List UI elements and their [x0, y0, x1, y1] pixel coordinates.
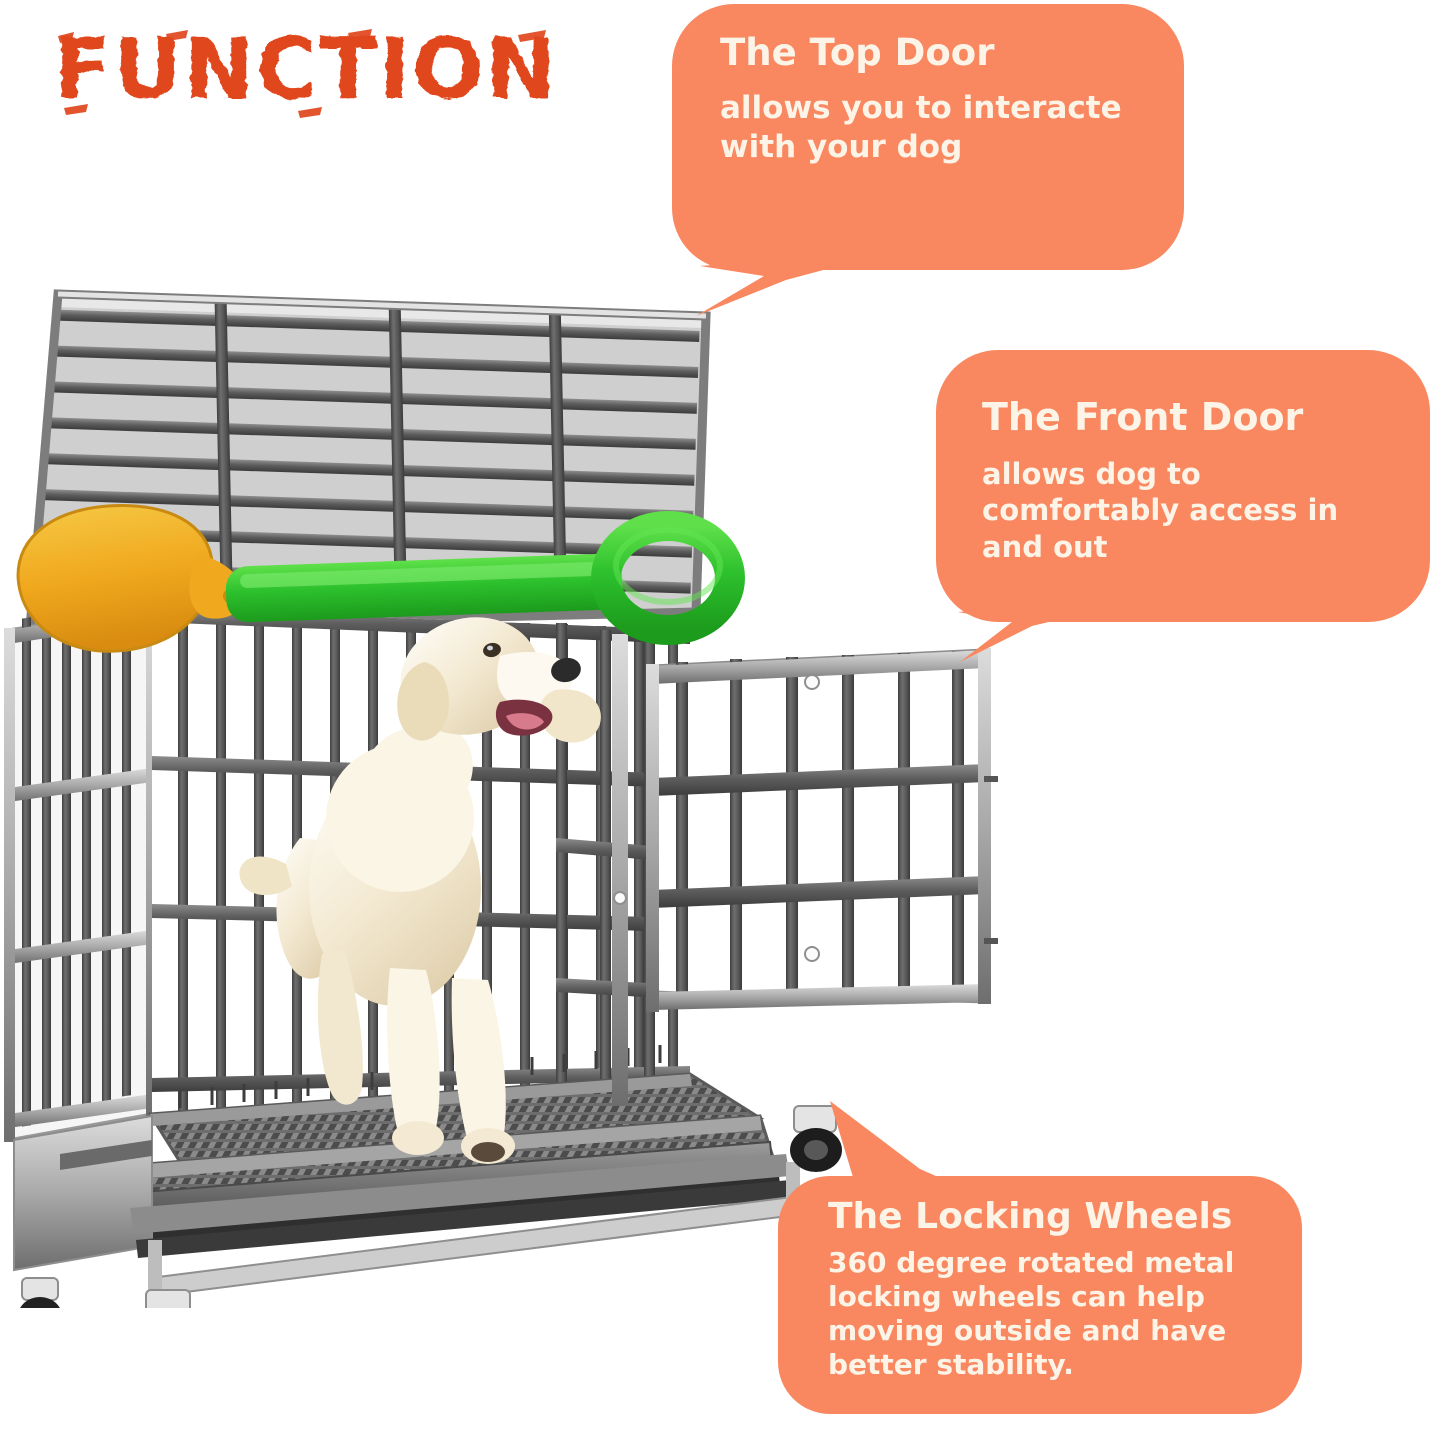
callout-locking-wheels[interactable]: The Locking Wheels 360 degree rotated me… — [778, 1176, 1302, 1414]
page-title: FUNCTION — [48, 16, 608, 126]
front-door-panel — [646, 648, 998, 1012]
callout-locking-wheels-body: 360 degree rotated metal locking wheels … — [828, 1246, 1276, 1383]
infographic-canvas: FUNCTION — [0, 0, 1445, 1430]
callout-locking-wheels-title: The Locking Wheels — [828, 1198, 1276, 1236]
callout-front-door-bubble: The Front Door allows dog to comfortably… — [936, 350, 1430, 622]
callout-top-door[interactable]: The Top Door allows you to interacte wit… — [672, 4, 1184, 270]
callout-top-door-bubble: The Top Door allows you to interacte wit… — [672, 4, 1184, 270]
door-frame-post — [612, 634, 628, 1104]
callout-front-door-title: The Front Door — [982, 398, 1404, 438]
callout-front-door-body: allows dog to comfortably access in and … — [982, 456, 1404, 566]
left-side-panel — [4, 587, 157, 1142]
callout-front-door[interactable]: The Front Door allows dog to comfortably… — [936, 350, 1430, 622]
page-title-text: FUNCTION — [54, 20, 558, 118]
product-image — [0, 278, 1030, 1308]
callout-top-door-title: The Top Door — [720, 34, 1150, 73]
callout-locking-wheels-bubble: The Locking Wheels 360 degree rotated me… — [778, 1176, 1302, 1414]
callout-top-door-body: allows you to interacte with your dog — [720, 89, 1150, 167]
